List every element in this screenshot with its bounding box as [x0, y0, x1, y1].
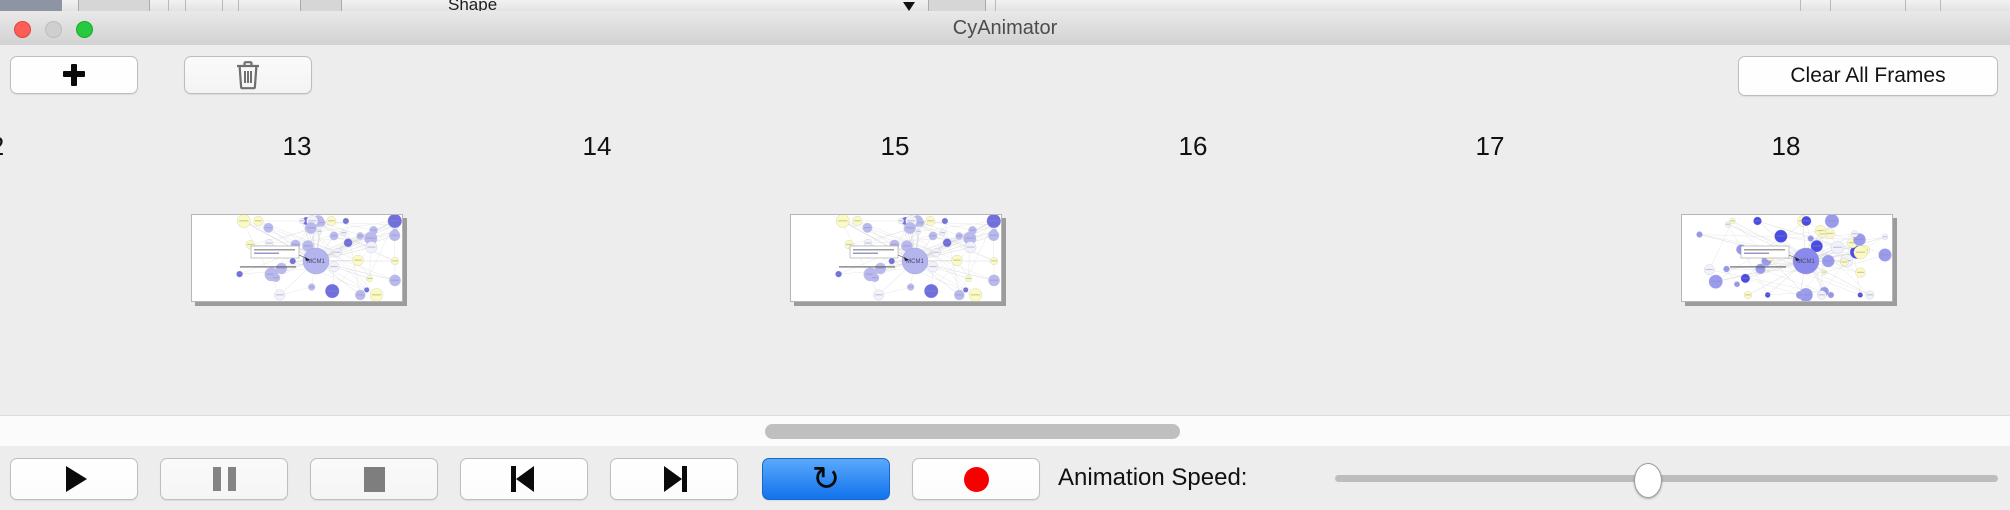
title-bar: CyAnimator — [0, 11, 2010, 46]
slider-thumb[interactable] — [1634, 463, 1662, 498]
timeline-panel[interactable]: MCM1MCM1MCM1 2131415161718 Seconds — [0, 103, 2010, 415]
add-frame-button[interactable] — [10, 56, 138, 94]
pause-icon — [213, 467, 236, 491]
record-icon — [964, 467, 989, 492]
playback-control-bar: ↻ Animation Speed: — [0, 446, 2010, 510]
scrollbar-thumb[interactable] — [765, 424, 1180, 439]
animation-speed-slider[interactable] — [1335, 458, 1998, 498]
loop-icon: ↻ — [812, 462, 841, 496]
axis-tick-label: 14 — [583, 131, 612, 162]
timeline-frame-thumbnail[interactable]: MCM1 — [1681, 214, 1893, 302]
axis-tick-label: 2 — [0, 131, 4, 162]
timeline-frame-thumbnail[interactable]: MCM1 — [790, 214, 1002, 302]
network-graph-thumbnail: MCM1 — [1682, 215, 1892, 301]
stop-icon — [364, 467, 385, 492]
timeline-scrollbar[interactable] — [0, 415, 2010, 448]
loop-button[interactable]: ↻ — [762, 458, 890, 500]
network-graph-thumbnail: MCM1 — [791, 215, 1001, 301]
pause-button[interactable] — [160, 458, 288, 500]
animation-speed-label: Animation Speed: — [1058, 458, 1247, 498]
toolbar: Clear All Frames — [0, 45, 2010, 104]
play-button[interactable] — [10, 458, 138, 500]
stop-button[interactable] — [310, 458, 438, 500]
background-window-label: Shape — [448, 0, 497, 11]
trash-icon — [235, 60, 261, 90]
cyanimator-window: Shape CyAnimator Clear — [0, 0, 2010, 510]
window-title: CyAnimator — [0, 11, 2010, 45]
plus-icon — [62, 63, 86, 87]
next-frame-button[interactable] — [610, 458, 738, 500]
axis-tick-label: 17 — [1476, 131, 1505, 162]
timeline-frame-thumbnail[interactable]: MCM1 — [191, 214, 403, 302]
axis-tick-label: 15 — [881, 131, 910, 162]
skip-next-icon — [661, 466, 687, 492]
background-window-strip: Shape — [0, 0, 2010, 11]
skip-previous-icon — [511, 466, 537, 492]
clear-all-frames-label: Clear All Frames — [1790, 64, 1945, 88]
record-button[interactable] — [912, 458, 1040, 500]
previous-frame-button[interactable] — [460, 458, 588, 500]
axis-tick-label: 18 — [1772, 131, 1801, 162]
background-triangle-icon — [903, 2, 915, 11]
axis-tick-label: 16 — [1179, 131, 1208, 162]
slider-track[interactable] — [1335, 475, 1998, 482]
clear-all-frames-button[interactable]: Clear All Frames — [1738, 56, 1998, 96]
network-graph-thumbnail: MCM1 — [192, 215, 402, 301]
axis-tick-label: 13 — [283, 131, 312, 162]
play-icon — [66, 466, 87, 492]
delete-frame-button[interactable] — [184, 56, 312, 94]
